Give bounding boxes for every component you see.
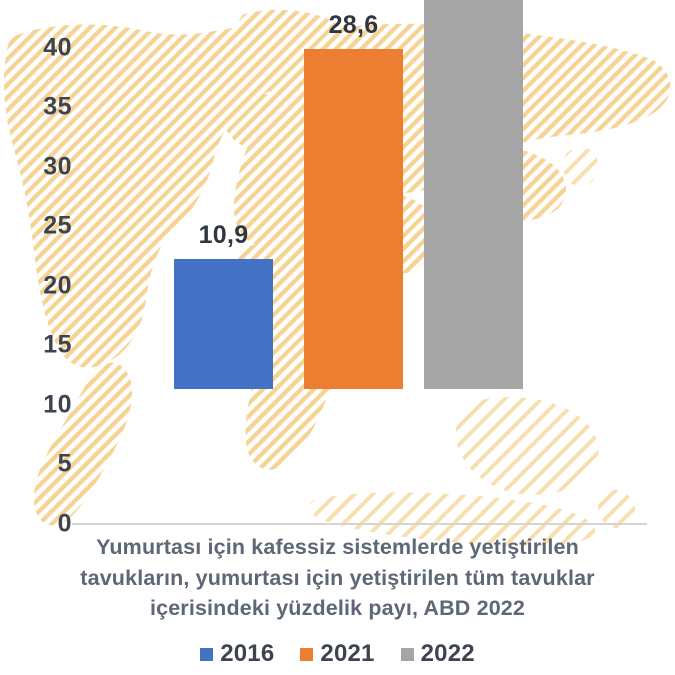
legend-label-2022: 2022 (421, 642, 475, 666)
bar-group: 10,9 28,6 34,8 (0, 0, 675, 540)
bar-rect-2022 (424, 0, 523, 389)
bar-rect-2021 (304, 49, 403, 389)
legend-swatch-2016-icon (200, 648, 213, 661)
chart-title: Yumurtası için kafessiz sistemlerde yeti… (40, 532, 635, 624)
chart-legend: 2016 2021 2022 (0, 642, 675, 666)
bar-value-label-2021: 28,6 (329, 11, 379, 40)
bar-2016[interactable]: 10,9 (174, 259, 273, 389)
bar-2021[interactable]: 28,6 (304, 49, 403, 389)
legend-item-2016[interactable]: 2016 (200, 642, 274, 666)
chart-container: 40 35 30 25 20 15 10 5 0 10,9 28,6 (0, 0, 675, 675)
bar-2022[interactable]: 34,8 (424, 0, 523, 389)
bar-rect-2016 (174, 259, 273, 389)
legend-label-2021: 2021 (320, 642, 374, 666)
legend-item-2022[interactable]: 2022 (401, 642, 475, 666)
legend-label-2016: 2016 (220, 642, 274, 666)
plot-area: 40 35 30 25 20 15 10 5 0 10,9 28,6 (0, 0, 675, 540)
legend-swatch-2021-icon (300, 648, 313, 661)
chart-title-line-2: tavukların, yumurtası için yetiştirilen … (40, 563, 635, 594)
chart-title-line-3: içerisindeki yüzdelik payı, ABD 2022 (40, 593, 635, 624)
chart-title-line-1: Yumurtası için kafessiz sistemlerde yeti… (40, 532, 635, 563)
legend-item-2021[interactable]: 2021 (300, 642, 374, 666)
legend-swatch-2022-icon (401, 648, 414, 661)
bar-value-label-2016: 10,9 (199, 221, 249, 250)
